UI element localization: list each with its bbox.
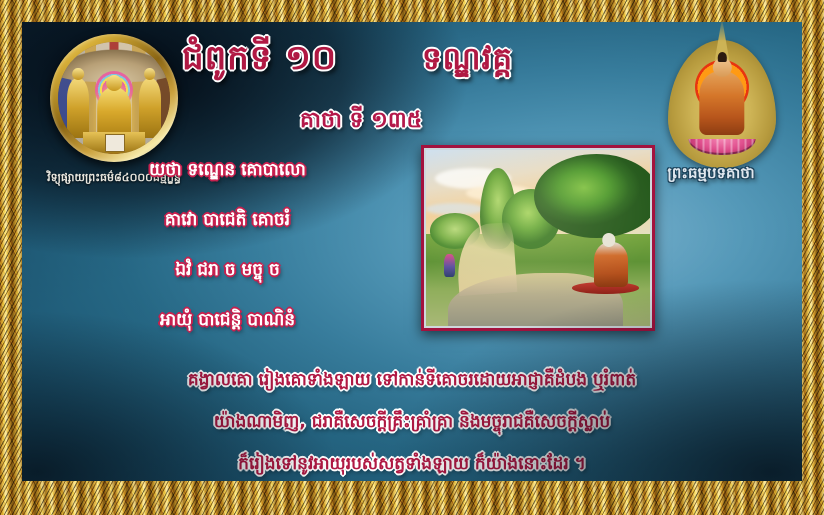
standing-buddha-left xyxy=(67,78,89,138)
shrine-canopy xyxy=(58,44,170,82)
pali-verse-line-3: ឯវំ ជរា ច មច្ចុ ច xyxy=(35,259,420,284)
meditating-monk-in-painting xyxy=(594,242,628,288)
right-emblem-caption: ព្រះធម្មបទគាថា xyxy=(626,164,796,186)
tree-middle xyxy=(502,189,560,249)
seated-buddha-center xyxy=(97,87,131,141)
tree-tall xyxy=(480,168,516,249)
dhammapada-verse-poster: វិទ្យុផ្សាយព្រះធម៌៨៤០០០ធម្មក្ខន្ធ ព្រះធម… xyxy=(0,0,824,515)
red-sitting-mat xyxy=(572,282,639,294)
altar-table xyxy=(83,132,146,154)
left-emblem-caption: វិទ្យុផ្សាយព្រះធម៌៨៤០០០ធម្មក្ខន្ធ xyxy=(22,171,209,187)
pali-verse-line-1: យថា ទណ្ឌេន គោបាលោ xyxy=(35,159,420,184)
buddha-shrine-medallion-icon xyxy=(50,34,178,162)
khmer-translation-line-3: ក៏រៀងទៅនូវអាយុរបស់សត្វទាំងឡាយ ក៏យ៉ាងនោះដ… xyxy=(22,453,802,478)
cloud-3 xyxy=(426,203,484,215)
painting-stream xyxy=(455,222,518,296)
khmer-translation-line-2: យ៉ាងណាមិញ, ជរាគឺសេចក្តីគ្រឹះគ្រាំគ្រា និ… xyxy=(22,411,802,436)
sun-halo-icon xyxy=(695,60,749,114)
lotus-throne xyxy=(689,139,756,156)
tree-far xyxy=(430,213,479,248)
painting-light-overlay xyxy=(426,150,650,326)
bodhi-leaf-buddha-icon xyxy=(668,40,776,168)
painting-inner-border xyxy=(424,148,652,328)
forest-stream-painting xyxy=(421,145,655,331)
cloud-2 xyxy=(466,185,533,201)
khmer-translation-line-1: គង្វាលគោ រៀងគោទាំងឡាយ ទៅកាន់ទីគោចរដោយអាជ… xyxy=(22,369,802,394)
tree-large xyxy=(534,154,652,238)
shrine-curtain xyxy=(58,42,170,154)
standing-buddha-right xyxy=(139,78,161,138)
villager-figure xyxy=(444,254,455,277)
painting-sky xyxy=(426,150,650,252)
content-layer: វិទ្យុផ្សាយព្រះធម៌៨៤០០០ធម្មក្ខន្ធ ព្រះធម… xyxy=(22,22,802,481)
poster-canvas: វិទ្យុផ្សាយព្រះធម៌៨៤០០០ធម្មក្ខន្ធ ព្រះធម… xyxy=(22,22,802,481)
cloud-1 xyxy=(435,168,511,189)
painting-pond xyxy=(448,273,623,326)
pali-verse-line-4: អាយុំ បាជេន្តិ បាណិនំ xyxy=(35,309,420,334)
painting-meadow xyxy=(426,234,650,326)
rainbow-halo-icon xyxy=(95,71,133,109)
verse-number-label: គាថា ទី ១៣៥ xyxy=(300,106,422,138)
altar-plaque xyxy=(105,134,125,152)
pali-verse-line-2: គាវោ បាជេតិ គោចរំ xyxy=(35,209,420,234)
chapter-title: ជំពូកទី ១០ xyxy=(182,36,337,86)
meditating-buddha-figure xyxy=(699,71,744,135)
shrine-scene xyxy=(58,42,170,154)
chapter-name: ទណ្ឌវគ្គ xyxy=(422,40,513,85)
